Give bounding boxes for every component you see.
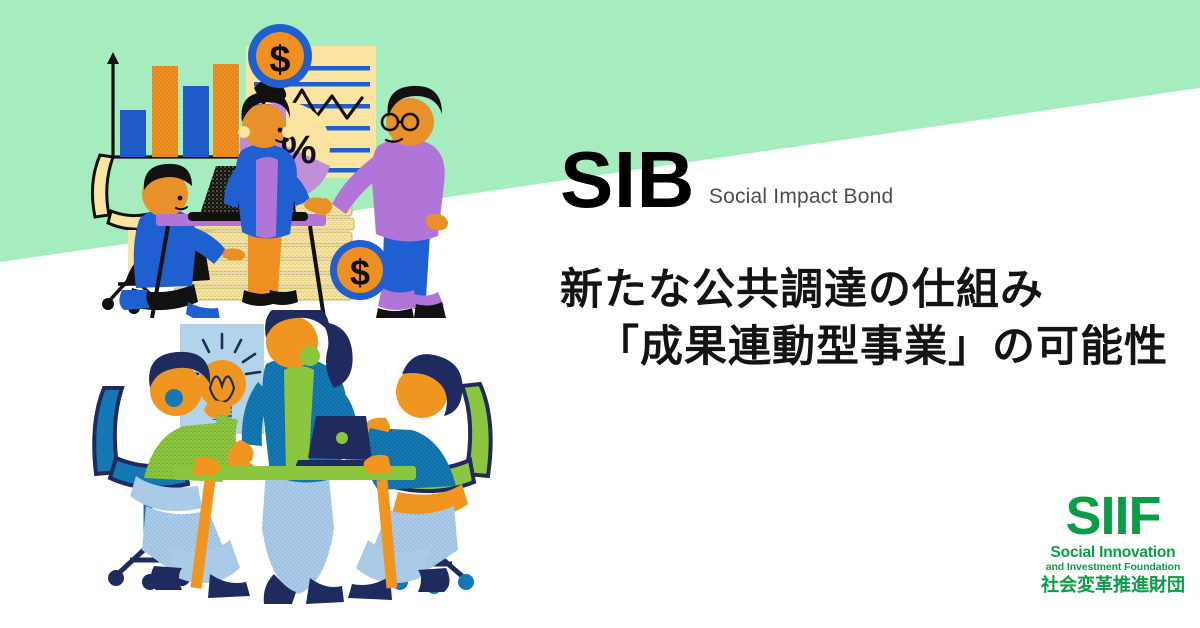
siif-english-line-1: Social Innovation xyxy=(1038,544,1188,561)
headline-japanese: 新たな公共調達の仕組み 「成果連動型事業」の可能性 xyxy=(560,262,1160,376)
bar-chart-bars xyxy=(120,64,239,157)
headline-line-2: 「成果連動型事業」の可能性 xyxy=(560,319,1160,376)
sib-promo-banner: % xyxy=(0,0,1200,628)
sib-acronym: SIB xyxy=(560,140,695,220)
sib-expansion: Social Impact Bond xyxy=(709,186,894,207)
dollar-coin-bottom: $ xyxy=(330,240,390,300)
svg-text:$: $ xyxy=(350,252,370,293)
meeting-team-illustration xyxy=(70,310,530,610)
siif-japanese-name: 社会変革推進財団 xyxy=(1038,575,1188,597)
siif-logo: SIIF Social Innovation and Investment Fo… xyxy=(1038,492,1188,596)
siif-english-line-2: and Investment Foundation xyxy=(1038,561,1188,573)
dollar-coin-top: $ xyxy=(248,24,312,88)
svg-text:$: $ xyxy=(269,39,290,81)
data-analysis-team-illustration: % xyxy=(48,18,518,318)
brand-mark-row: SIB Social Impact Bond xyxy=(560,140,1160,220)
headline-block: SIB Social Impact Bond 新たな公共調達の仕組み 「成果連動… xyxy=(560,140,1160,376)
headline-line-1: 新たな公共調達の仕組み xyxy=(560,262,1160,319)
siif-wordmark: SIIF xyxy=(1038,492,1188,542)
